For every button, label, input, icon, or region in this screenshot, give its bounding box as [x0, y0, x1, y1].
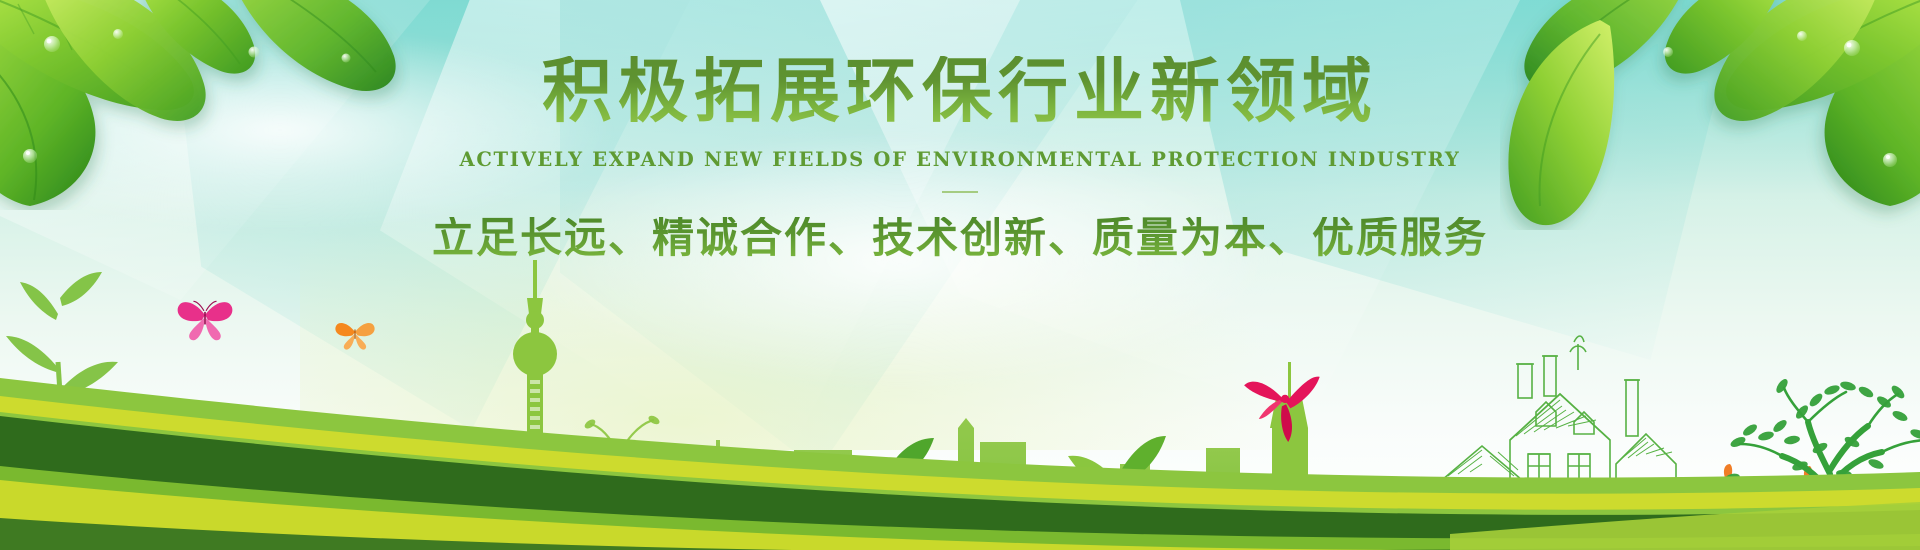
wave-bands: [0, 320, 1920, 550]
eco-banner: 积极拓展环保行业新领域 ACTIVELY EXPAND NEW FIELDS O…: [0, 0, 1920, 550]
company-slogan: 立足长远、精诚合作、技术创新、质量为本、优质服务: [0, 217, 1920, 259]
page-title: 积极拓展环保行业新领域: [0, 56, 1920, 126]
banner-text-block: 积极拓展环保行业新领域 ACTIVELY EXPAND NEW FIELDS O…: [0, 56, 1920, 259]
subtitle-english: ACTIVELY EXPAND NEW FIELDS OF ENVIRONMEN…: [0, 148, 1920, 171]
title-divider: [942, 191, 978, 193]
